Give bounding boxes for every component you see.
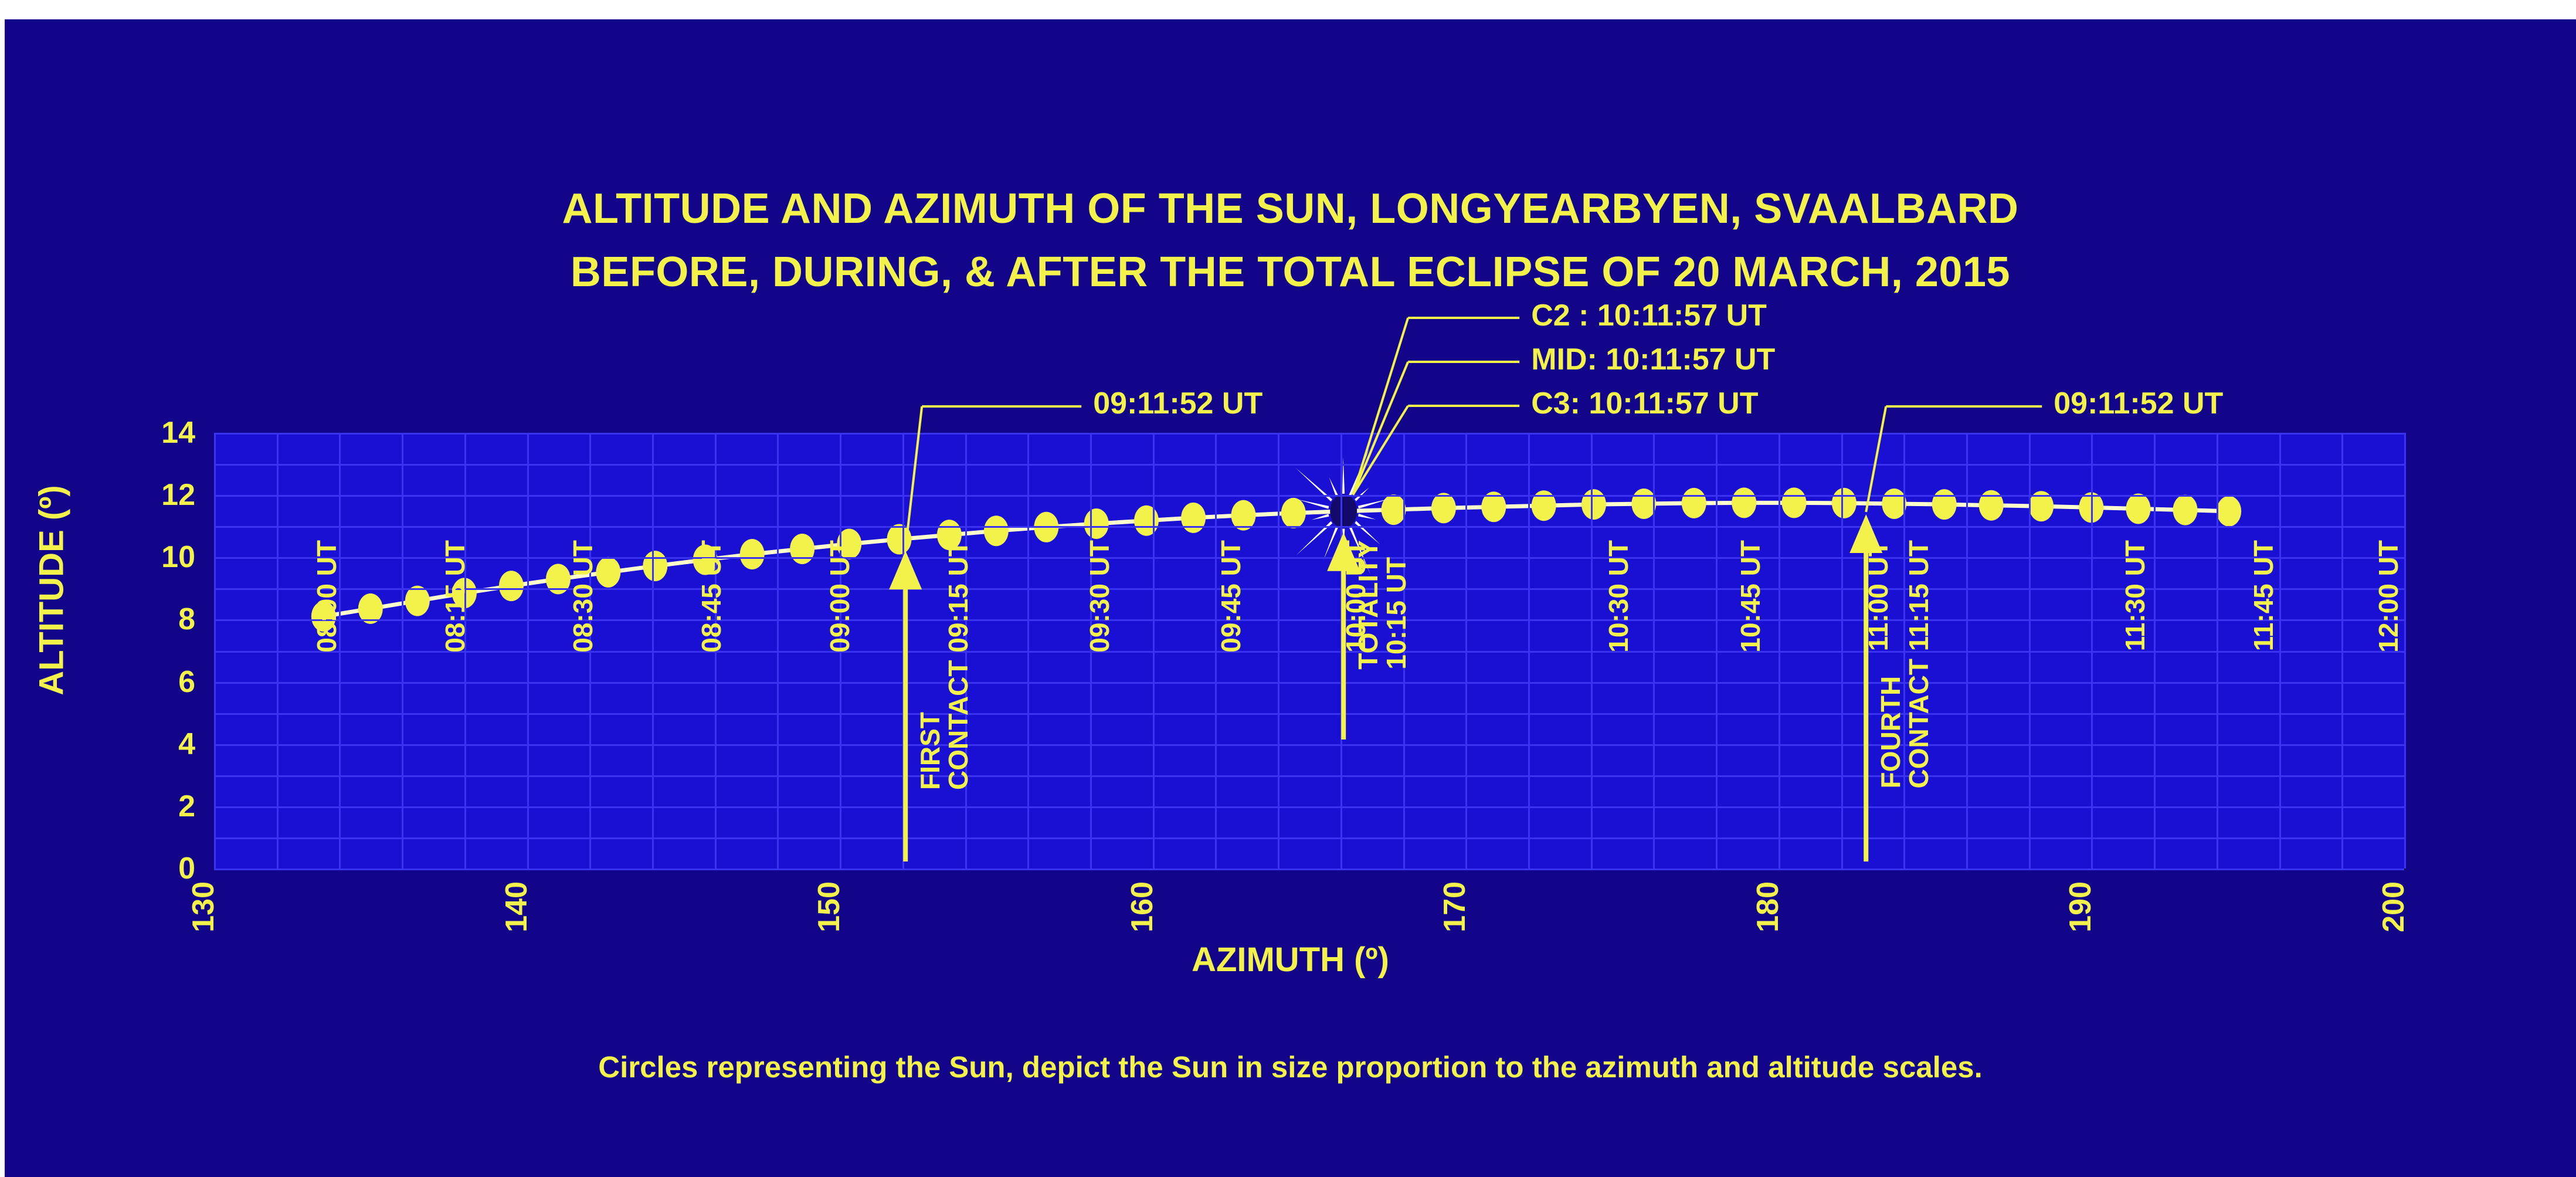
plot-area <box>214 433 2404 869</box>
totality-callout: C2 : 10:11:57 UT <box>1531 300 1767 331</box>
first-contact-name-line1: FIRST <box>915 712 945 790</box>
sun-marker <box>1581 489 1606 520</box>
time-label: 08:00 UT <box>313 540 340 653</box>
y-gridline <box>214 837 2404 839</box>
corona-ray <box>1349 448 1369 496</box>
y-gridline <box>214 464 2404 466</box>
sun-marker <box>1682 488 1706 518</box>
first-contact-callout: 09:11:52 UT <box>1093 388 1262 419</box>
time-label: 10:45 UT <box>1737 540 1764 653</box>
page-title-line2: BEFORE, DURING, & AFTER THE TOTAL ECLIPS… <box>5 248 2576 296</box>
fourth-contact-label: FOURTHCONTACT 11:15 UT <box>1876 540 1933 788</box>
corona-ray <box>1329 477 1338 496</box>
y-tick-label: 0 <box>178 853 195 884</box>
y-axis-ticks: 02468101214 <box>93 433 195 869</box>
sun-marker <box>1832 488 1857 518</box>
y-gridline <box>214 433 2404 435</box>
sun-marker <box>1732 487 1756 518</box>
sun-marker <box>2217 496 2241 527</box>
sun-marker <box>887 524 912 555</box>
y-gridline <box>214 869 2404 870</box>
y-gridline <box>214 744 2404 746</box>
corona-ray <box>1323 527 1338 560</box>
totality-name-line2: 10:15 UT <box>1381 557 1411 670</box>
y-gridline <box>214 619 2404 621</box>
y-tick-label: 10 <box>161 542 195 572</box>
slide-canvas: ALTITUDE AND AZIMUTH OF THE SUN, LONGYEA… <box>0 0 2576 1177</box>
totality-callout: C3: 10:11:57 UT <box>1531 388 1758 419</box>
fourth-contact-callout: 09:11:52 UT <box>2054 388 2223 419</box>
page-title-line1: ALTITUDE AND AZIMUTH OF THE SUN, LONGYEA… <box>5 185 2576 233</box>
fourth-contact-name-line1: FOURTH <box>1875 676 1906 789</box>
corona-ray <box>1342 457 1345 494</box>
first-contact-name-line2: CONTACT 09:15 UT <box>943 540 973 790</box>
time-label: 08:30 UT <box>569 540 596 653</box>
x-tick-label: 200 <box>2378 881 2409 932</box>
eclipsed-sun-disk <box>1330 494 1357 528</box>
sun-marker <box>1281 498 1306 528</box>
totality-callout: MID: 10:11:57 UT <box>1531 344 1775 375</box>
corona-ray <box>1355 487 1369 501</box>
x-tick-label: 190 <box>2065 881 2096 932</box>
sun-marker <box>499 571 524 601</box>
x-tick-label: 130 <box>188 881 219 932</box>
y-gridline <box>214 806 2404 808</box>
sun-marker <box>1932 489 1957 520</box>
slide-background: ALTITUDE AND AZIMUTH OF THE SUN, LONGYEA… <box>5 19 2576 1177</box>
sun-marker <box>984 515 1009 546</box>
y-tick-label: 2 <box>178 791 195 822</box>
x-tick-label: 140 <box>501 881 532 932</box>
x-tick-label: 150 <box>814 881 844 932</box>
totality-name-line1: TOTALITY <box>1353 540 1383 670</box>
sun-marker <box>1382 494 1406 525</box>
sun-marker <box>405 586 430 616</box>
sun-marker <box>1431 493 1456 523</box>
y-gridline <box>214 557 2404 559</box>
time-label: 10:30 UT <box>1605 540 1632 653</box>
y-gridline <box>214 713 2404 715</box>
x-tick-label: 170 <box>1440 881 1470 932</box>
y-tick-label: 8 <box>178 604 195 635</box>
x-gridline <box>2404 433 2406 869</box>
corona-ray <box>1312 514 1329 520</box>
time-label: 09:45 UT <box>1217 540 1244 653</box>
x-axis-title: AZIMUTH (º) <box>5 940 2576 979</box>
y-gridline <box>214 775 2404 777</box>
y-tick-label: 6 <box>178 667 195 697</box>
sun-marker <box>643 551 667 581</box>
y-gridline <box>214 682 2404 684</box>
y-gridline <box>214 588 2404 590</box>
totality-label: TOTALITY10:15 UT <box>1354 540 1411 670</box>
time-label: 09:30 UT <box>1086 540 1113 653</box>
time-label: 11:30 UT <box>2122 540 2149 651</box>
time-label: 08:45 UT <box>698 540 725 653</box>
y-axis-title: ALTITUDE (º) <box>32 409 72 772</box>
sun-marker <box>596 557 620 588</box>
fourth-contact-name-line2: CONTACT 11:15 UT <box>1904 540 1934 788</box>
y-tick-label: 14 <box>161 418 195 448</box>
first-contact-label: FIRSTCONTACT 09:15 UT <box>916 540 973 790</box>
y-gridline <box>214 651 2404 653</box>
time-label: 12:00 UT <box>2375 540 2402 653</box>
x-tick-label: 180 <box>1753 881 1783 932</box>
sun-marker <box>790 534 814 564</box>
time-label: 09:00 UT <box>826 540 853 653</box>
sun-marker <box>1134 506 1159 536</box>
sun-marker <box>1882 489 1906 519</box>
sun-marker <box>740 539 765 569</box>
sun-marker <box>1181 503 1206 533</box>
time-label: 08:15 UT <box>442 540 469 653</box>
sun-marker <box>1782 487 1807 518</box>
sun-marker <box>1084 508 1109 539</box>
figure-caption: Circles representing the Sun, depict the… <box>5 1050 2576 1084</box>
y-gridline <box>214 495 2404 497</box>
sun-marker <box>2126 494 2151 524</box>
corona-ray <box>1358 514 1376 520</box>
sun-marker <box>1631 489 1656 519</box>
y-tick-label: 12 <box>161 480 195 510</box>
time-label: 11:45 UT <box>2250 540 2277 651</box>
y-tick-label: 4 <box>178 729 195 759</box>
x-tick-label: 160 <box>1127 881 1158 932</box>
y-gridline <box>214 526 2404 528</box>
sun-marker <box>2173 495 2198 525</box>
